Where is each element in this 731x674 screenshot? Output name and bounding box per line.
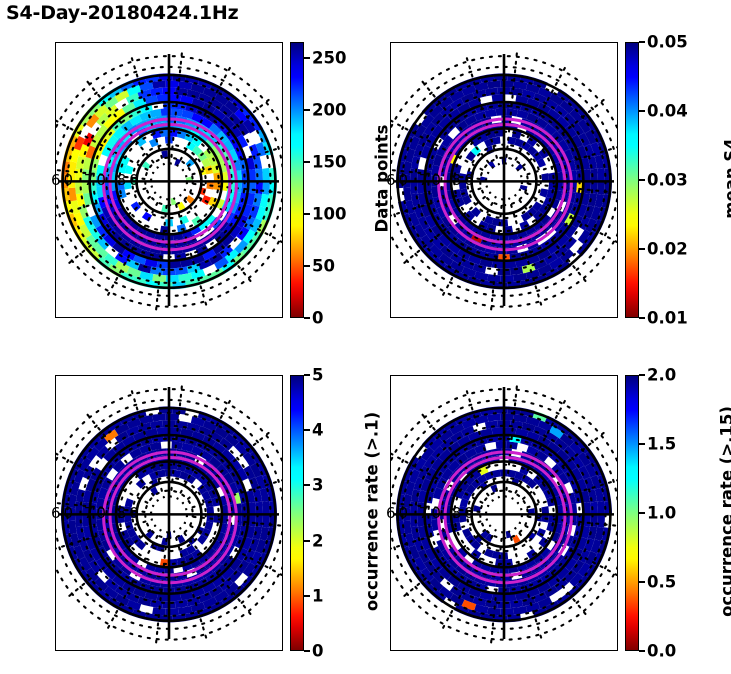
polar-bin bbox=[487, 80, 501, 88]
polar-bin bbox=[597, 514, 605, 527]
polar-bin bbox=[507, 108, 518, 116]
polar-bin bbox=[172, 441, 183, 449]
colorbar-tick-label: 100 bbox=[312, 204, 346, 223]
colorbar-tick-label: 150 bbox=[312, 152, 346, 171]
polar-bin bbox=[172, 108, 183, 116]
colorbar-tick bbox=[304, 317, 310, 319]
colorbar-tick-label: 0.04 bbox=[647, 102, 688, 121]
colorbar-gradient bbox=[290, 42, 304, 318]
colorbar-tick-label: 3 bbox=[312, 476, 323, 495]
colorbar-tick-label: 250 bbox=[312, 48, 346, 67]
polar-bin bbox=[597, 501, 605, 514]
colorbar-tick bbox=[304, 265, 310, 267]
polar-bin bbox=[169, 559, 178, 567]
colorbar-tick bbox=[304, 213, 310, 215]
colorbar-title: occurrence rate (>.1) bbox=[363, 374, 382, 650]
colorbar-tick bbox=[304, 595, 310, 597]
panel-top-right: 60 70 80 bbox=[390, 42, 618, 318]
polar-bin bbox=[152, 80, 166, 88]
colorbar-tick bbox=[304, 484, 310, 486]
colorbar-tick-label: 50 bbox=[312, 256, 335, 275]
colorbar-mean-s4: 0.010.020.030.040.05mean S4 bbox=[625, 42, 639, 318]
colorbar-tick bbox=[639, 248, 645, 250]
colorbar-tick bbox=[304, 161, 310, 163]
colorbar-tick-label: 200 bbox=[312, 100, 346, 119]
colorbar-tick-label: 1.5 bbox=[647, 435, 676, 454]
polar-bin bbox=[504, 226, 513, 234]
colorbar-gradient bbox=[625, 375, 639, 651]
colorbar-tick bbox=[639, 317, 645, 319]
colorbar-data-points: 050100150200250Data points bbox=[290, 42, 304, 318]
colorbar-tick-label: 0 bbox=[312, 309, 323, 328]
colorbar-tick-label: 0.5 bbox=[647, 573, 676, 592]
radial-tick-labels: 60 70 80 bbox=[386, 171, 477, 189]
colorbar-title: mean S4 bbox=[722, 41, 731, 317]
colorbar-tick bbox=[639, 581, 645, 583]
colorbar-tick bbox=[304, 429, 310, 431]
panel-bottom-right: 60 70 80 bbox=[390, 375, 618, 651]
colorbar-tick bbox=[639, 110, 645, 112]
polar-bin bbox=[507, 441, 518, 449]
polar-bin bbox=[213, 172, 221, 181]
colorbar-tick bbox=[639, 443, 645, 445]
colorbar-tick bbox=[639, 650, 645, 652]
polar-bin bbox=[142, 212, 152, 222]
page-title: S4-Day-20180424.1Hz bbox=[6, 2, 238, 24]
figure-root: S4-Day-20180424.1Hz 60 70 80 05010015020… bbox=[0, 0, 731, 674]
polar-bin bbox=[166, 80, 179, 87]
polar-bin bbox=[487, 413, 501, 421]
polar-bin bbox=[501, 80, 514, 87]
colorbar-occurrence-rate-01: 012345occurrence rate (>.1) bbox=[290, 375, 304, 651]
panel-top-left: 60 70 80 bbox=[55, 42, 283, 318]
radial-tick-labels: 60 70 80 bbox=[386, 504, 477, 522]
colorbar-tick-label: 0.02 bbox=[647, 240, 688, 259]
polar-bin bbox=[152, 413, 166, 421]
polar-bin bbox=[262, 514, 270, 527]
colorbar-tick bbox=[304, 540, 310, 542]
polar-bin bbox=[548, 172, 556, 181]
colorbar-tick-label: 1.0 bbox=[647, 504, 676, 523]
polar-bin bbox=[501, 275, 514, 282]
polar-bin bbox=[597, 181, 605, 194]
polar-bin bbox=[166, 608, 179, 615]
polar-bin bbox=[504, 559, 513, 567]
colorbar-title: occurrence rate (>.15) bbox=[718, 374, 731, 650]
colorbar-tick-label: 0.05 bbox=[647, 33, 688, 52]
colorbar-tick bbox=[304, 650, 310, 652]
colorbar-tick-label: 0.0 bbox=[647, 642, 676, 661]
radial-tick-labels: 60 70 80 bbox=[51, 171, 142, 189]
colorbar-tick-label: 4 bbox=[312, 421, 323, 440]
colorbar-tick bbox=[304, 57, 310, 59]
colorbar-tick-label: 2.0 bbox=[647, 366, 676, 385]
colorbar-tick-label: 5 bbox=[312, 366, 323, 385]
polar-bin bbox=[501, 413, 514, 420]
polar-bin bbox=[501, 608, 514, 615]
panel-bottom-left: 60 70 80 bbox=[55, 375, 283, 651]
polar-bin bbox=[536, 528, 546, 538]
colorbar-occurrence-rate-015: 0.00.51.01.52.0occurrence rate (>.15) bbox=[625, 375, 639, 651]
polar-bin bbox=[166, 275, 179, 282]
colorbar-gradient bbox=[625, 42, 639, 318]
colorbar-tick bbox=[639, 41, 645, 43]
colorbar-gradient bbox=[290, 375, 304, 651]
colorbar-tick-label: 2 bbox=[312, 531, 323, 550]
polar-bin bbox=[262, 168, 270, 181]
colorbar-tick bbox=[639, 179, 645, 181]
colorbar-tick bbox=[304, 374, 310, 376]
colorbar-tick bbox=[639, 512, 645, 514]
radial-tick-labels: 60 70 80 bbox=[51, 504, 142, 522]
polar-bin bbox=[262, 181, 270, 194]
colorbar-tick-label: 1 bbox=[312, 586, 323, 605]
polar-bin bbox=[166, 413, 179, 420]
colorbar-tick bbox=[304, 109, 310, 111]
colorbar-tick-label: 0.01 bbox=[647, 309, 688, 328]
polar-bin bbox=[597, 168, 605, 181]
colorbar-tick-label: 0 bbox=[312, 642, 323, 661]
colorbar-tick-label: 0.03 bbox=[647, 171, 688, 190]
polar-bin bbox=[262, 501, 270, 514]
colorbar-tick bbox=[639, 374, 645, 376]
